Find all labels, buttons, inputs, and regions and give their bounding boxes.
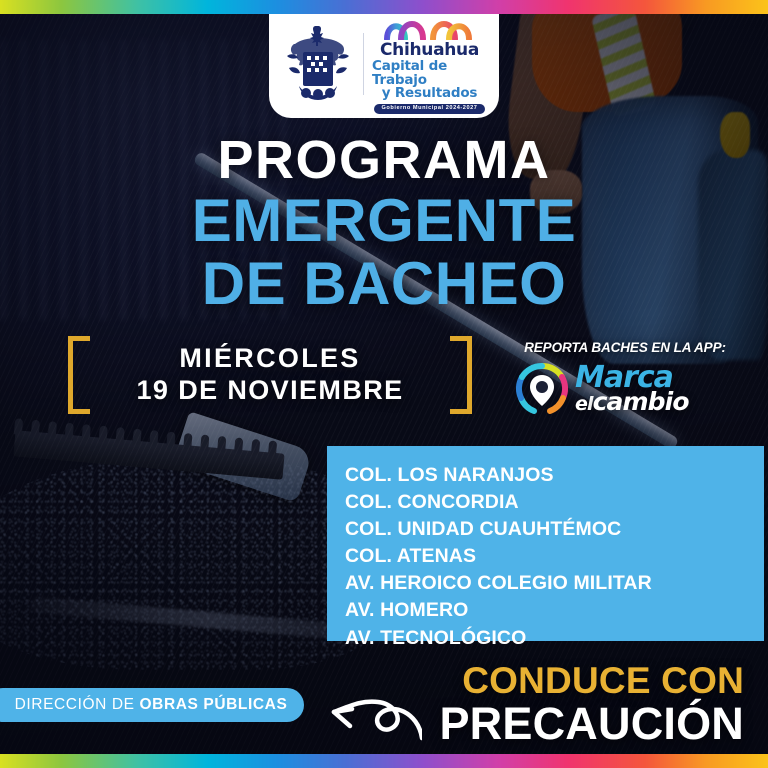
- brand-line-2: Capital de Trabajo: [372, 60, 487, 87]
- warning-line-2: PRECAUCIÓN: [439, 701, 744, 746]
- rainbow-bar-bottom: [0, 754, 768, 768]
- list-item: COL. LOS NARANJOS: [345, 462, 764, 489]
- list-item: AV. HOMERO: [345, 597, 764, 624]
- date-block: MIÉRCOLES 19 DE NOVIEMBRE: [64, 336, 476, 414]
- chihuahua-arcs-icon: [383, 14, 477, 40]
- headline-line-3: DE BACHEO: [0, 253, 768, 314]
- chihuahua-coat-of-arms-icon: [281, 22, 355, 106]
- street-list-box: COL. LOS NARANJOS COL. CONCORDIA COL. UN…: [327, 446, 764, 641]
- date-full: 19 DE NOVIEMBRE: [136, 375, 403, 407]
- department-label: DIRECCIÓN DE OBRAS PÚBLICAS: [15, 696, 288, 714]
- app-name-el: el: [575, 393, 593, 415]
- app-name-cambio-word: cambio: [593, 387, 689, 416]
- rainbow-bar-top: [0, 0, 768, 14]
- government-header-badge: Chihuahua Capital de Trabajo y Resultado…: [269, 12, 499, 118]
- poster-canvas: Chihuahua Capital de Trabajo y Resultado…: [0, 0, 768, 768]
- warning-line-1: CONDUCE CON: [439, 662, 744, 699]
- department-pill: DIRECCIÓN DE OBRAS PÚBLICAS: [0, 688, 304, 722]
- bracket-left-icon: [64, 336, 90, 414]
- drive-safely-message: CONDUCE CON PRECAUCIÓN: [439, 662, 744, 746]
- headline-line-1: PROGRAMA: [0, 133, 768, 188]
- app-promo-label: REPORTA BACHES EN LA APP:: [505, 340, 745, 355]
- headline-block: PROGRAMA EMERGENTE DE BACHEO: [0, 133, 768, 314]
- department-prefix: DIRECCIÓN DE: [15, 696, 140, 713]
- bracket-right-icon: [450, 336, 476, 414]
- brand-line-1: Chihuahua: [380, 42, 479, 59]
- headline-line-2: EMERGENTE: [0, 190, 768, 251]
- curly-arrow-left-icon: [300, 672, 422, 744]
- department-name: OBRAS PÚBLICAS: [140, 696, 288, 713]
- list-item: AV. HEROICO COLEGIO MILITAR: [345, 570, 764, 597]
- marca-el-cambio-logo[interactable]: Marca elcambio: [505, 362, 745, 416]
- brand-line-3: y Resultados: [382, 87, 477, 101]
- list-item: COL. ATENAS: [345, 543, 764, 570]
- list-item: COL. UNIDAD CUAUHTÉMOC: [345, 516, 764, 543]
- list-item: AV. TECNOLÓGICO: [345, 625, 764, 652]
- list-item: COL. CONCORDIA: [345, 489, 764, 516]
- brand-tagline: Gobierno Municipal 2024-2027: [374, 104, 486, 114]
- app-promo-block: REPORTA BACHES EN LA APP: Marca elcambio: [505, 340, 745, 416]
- app-name-cambio: elcambio: [575, 390, 689, 414]
- badge-divider: [363, 33, 364, 95]
- chihuahua-brand-logo: Chihuahua Capital de Trabajo y Resultado…: [372, 14, 487, 113]
- location-pin-icon: [515, 362, 569, 416]
- date-weekday: MIÉRCOLES: [136, 343, 403, 375]
